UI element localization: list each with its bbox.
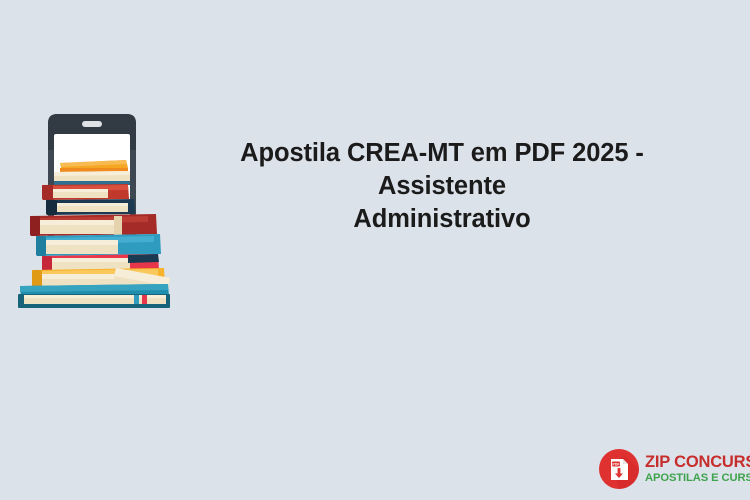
logo-primary-text: ZIP CONCURSOS [645,454,750,471]
pdf-download-icon: PDF [599,449,639,489]
logo-wordmark: ZIP CONCURSOS APOSTILAS E CURSOS [645,454,750,485]
zip-concursos-logo[interactable]: PDF ZIP CONCURSOS APOSTILAS E CURSOS [599,446,739,492]
book-cream-1 [54,171,130,185]
page-title-line-1: Apostila CREA-MT em PDF 2025 - Assistent… [186,137,698,203]
logo-secondary-text: APOSTILAS E CURSOS [645,472,750,485]
book-darkred-wide [30,214,157,236]
books-illustration [8,110,178,310]
book-base-teal [18,284,170,308]
book-teal-1 [36,234,161,256]
svg-text:PDF: PDF [612,463,620,467]
book-navy-1 [46,199,135,215]
page-canvas: Apostila CREA-MT em PDF 2025 - Assistent… [0,0,750,500]
page-title: Apostila CREA-MT em PDF 2025 - Assistent… [186,137,698,236]
book-red-1 [42,184,129,200]
page-title-line-2: Administrativo [186,203,698,236]
